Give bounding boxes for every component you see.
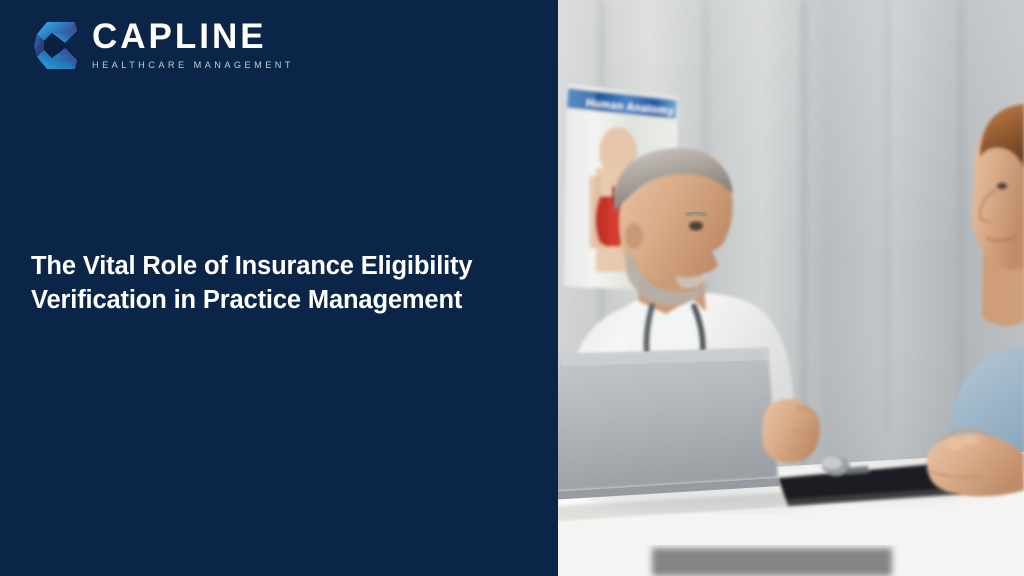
patient-eye — [997, 182, 1008, 190]
capline-logo: CAPLINE HEALTHCARE MANAGEMENT — [31, 17, 294, 73]
brand-tagline: HEALTHCARE MANAGEMENT — [92, 61, 294, 70]
headline-text: The Vital Role of Insurance Eligibility … — [31, 250, 531, 318]
logo-wordmark: CAPLINE HEALTHCARE MANAGEMENT — [92, 19, 294, 70]
clinic-consultation-photo: Human Anatomy — [556, 0, 1024, 576]
navy-text-panel: CAPLINE HEALTHCARE MANAGEMENT The Vital … — [0, 0, 558, 576]
capline-c-mark — [31, 17, 79, 73]
doctor-eye — [689, 221, 703, 230]
brand-name: CAPLINE — [92, 19, 294, 54]
laptop — [556, 348, 780, 500]
laptop-lid — [556, 348, 778, 492]
banner-graphic: Human Anatomy — [0, 0, 1024, 576]
